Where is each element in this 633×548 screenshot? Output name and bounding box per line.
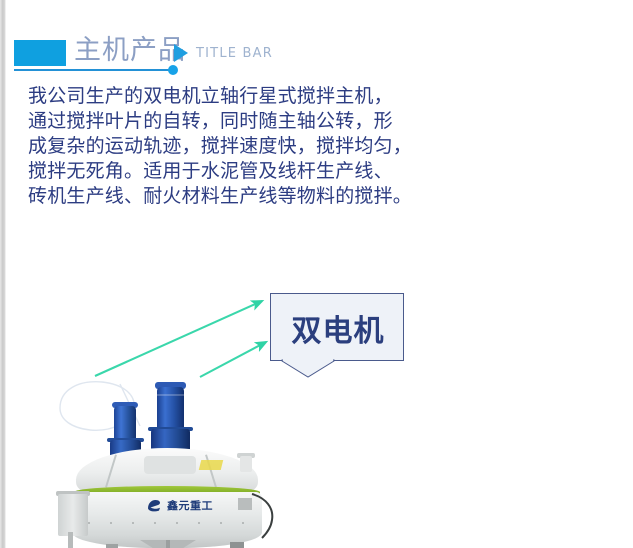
mixer-side-pipe — [68, 532, 73, 548]
mixer-name-plate — [238, 498, 252, 510]
brand-name: 鑫元重工 — [167, 497, 213, 512]
product-photo: 鑫元重工 — [52, 372, 328, 548]
motor-primary-fin — [156, 394, 185, 396]
section-heading-cn: 主机产品 — [74, 34, 186, 68]
mixer-nozzle — [240, 456, 252, 472]
mixer-warning-sticker — [199, 460, 223, 470]
mixer-base-frame — [140, 540, 196, 548]
triangle-right-icon — [174, 44, 188, 62]
mixer-side-housing — [58, 494, 88, 536]
photo-watermark — [54, 374, 162, 438]
brand-logo: 鑫元重工 — [146, 496, 232, 514]
title-underline — [14, 69, 174, 71]
brand-mark-icon — [146, 497, 162, 513]
mixer-rivet-row — [88, 522, 244, 524]
product-description: 我公司生产的双电机立轴行星式搅拌主机， 通过搅拌叶片的自转，同时随主轴公转，形 … — [28, 84, 448, 209]
callout-box: 双电机 — [270, 293, 404, 361]
mixer-inspection-hatch — [144, 456, 196, 474]
content-canvas: 主机产品 TITLE BAR 我公司生产的双电机立轴行星式搅拌主机， 通过搅拌叶… — [0, 0, 633, 548]
section-title-bar: 主机产品 TITLE BAR — [14, 38, 434, 72]
mixer-cable — [250, 492, 278, 540]
arrow-upper — [95, 301, 262, 376]
title-accent-swatch — [14, 40, 66, 66]
section-heading-en: TITLE BAR — [196, 46, 273, 61]
mixer-leg-left — [106, 544, 118, 548]
motor-secondary-body — [114, 406, 136, 442]
callout-label: 双电机 — [271, 294, 405, 362]
title-end-dot-icon — [168, 65, 178, 75]
mixer-leg-right — [230, 542, 244, 548]
